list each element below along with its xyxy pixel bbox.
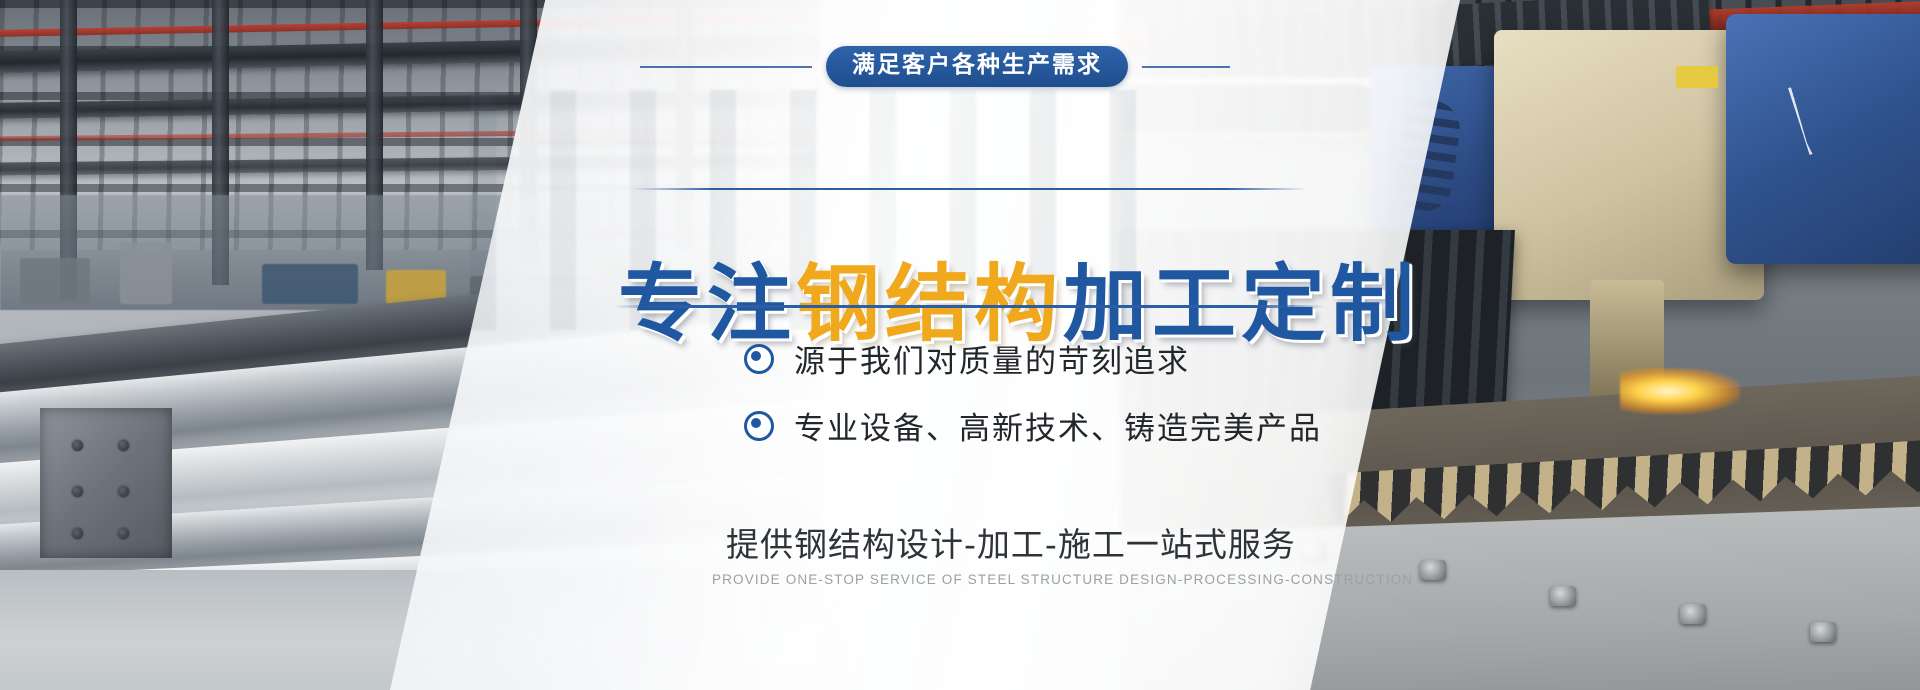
tagline-badge-row: 满足客户各种生产需求 — [640, 46, 1230, 87]
list-item-label: 专业设备、高新技术、铸造完美产品 — [794, 403, 1322, 448]
list-item-label: 源于我们对质量的苛刻追求 — [794, 336, 1190, 381]
radio-dot-icon — [744, 344, 774, 374]
radio-dot-icon — [744, 411, 774, 441]
headline-rule-bottom — [614, 305, 1326, 308]
badge-rule-left — [640, 66, 812, 68]
banner-content: 满足客户各种生产需求 专注钢结构加工定制 源于我们对质量的苛刻追求 专业设备、高… — [0, 0, 1920, 690]
hero-banner: 满足客户各种生产需求 专注钢结构加工定制 源于我们对质量的苛刻追求 专业设备、高… — [0, 0, 1920, 690]
service-tagline: 提供钢结构设计-加工-施工一站式服务 — [726, 518, 1296, 566]
list-item: 专业设备、高新技术、铸造完美产品 — [744, 403, 1322, 448]
service-subtitle-english: PROVIDE ONE-STOP SERVICE OF STEEL STRUCT… — [712, 572, 1413, 587]
headline-rule-top — [632, 188, 1308, 190]
badge-rule-right — [1142, 66, 1230, 68]
badge-pill: 满足客户各种生产需求 — [826, 46, 1128, 87]
feature-list: 源于我们对质量的苛刻追求 专业设备、高新技术、铸造完美产品 — [744, 336, 1322, 470]
list-item: 源于我们对质量的苛刻追求 — [744, 336, 1322, 381]
